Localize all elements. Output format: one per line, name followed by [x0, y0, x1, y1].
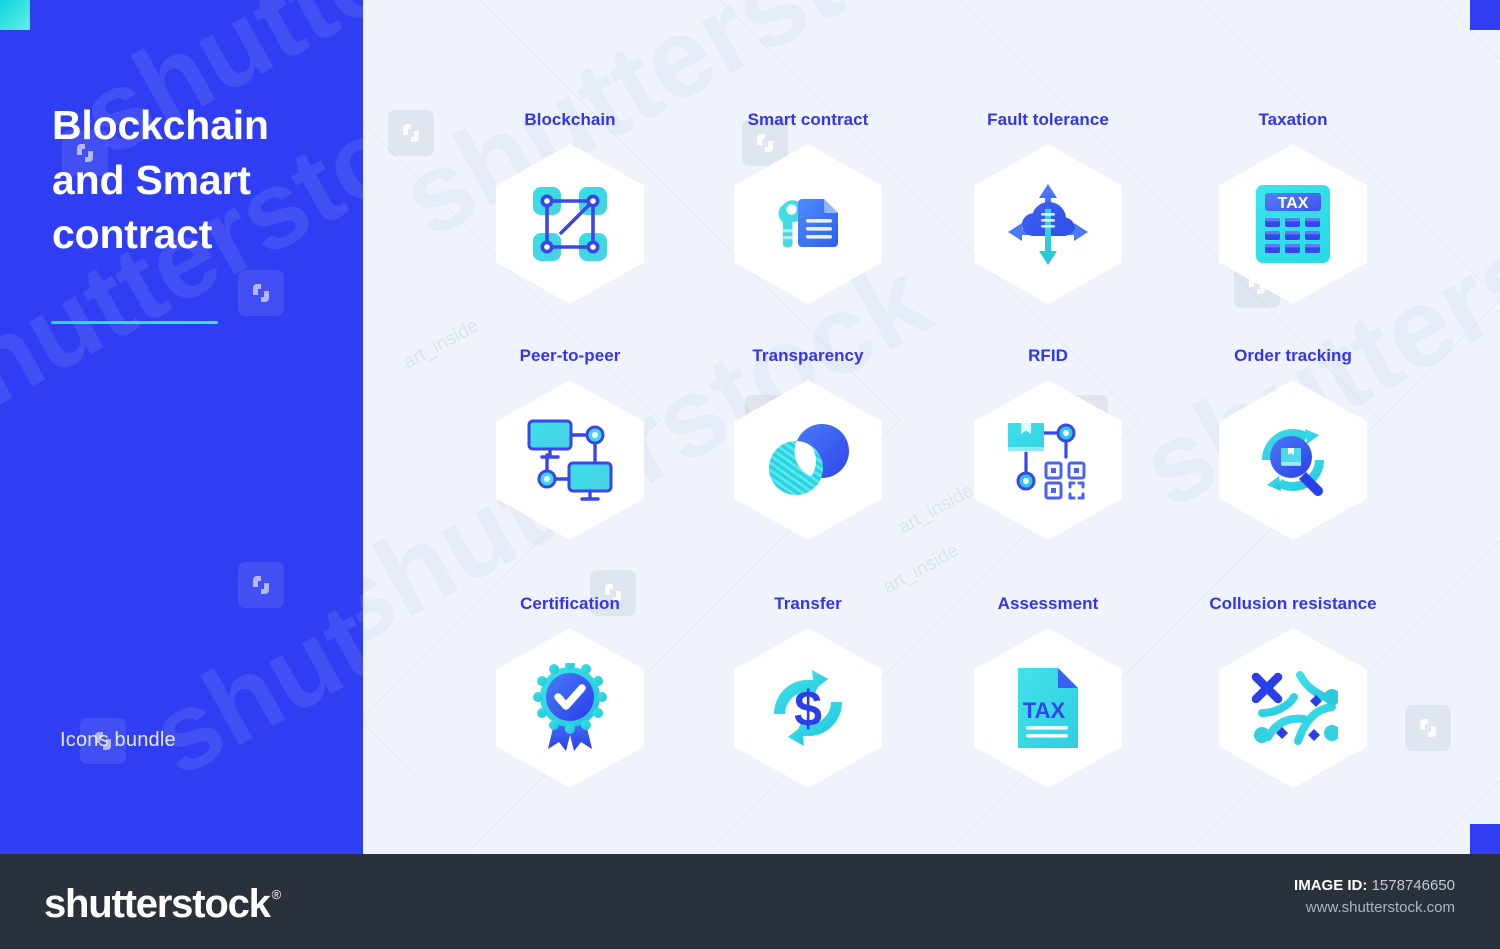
hex-tile[interactable]	[974, 144, 1122, 304]
corner-accent-bottom-right	[1470, 824, 1500, 854]
icon-cell-blockchain[interactable]: Blockchain	[470, 110, 670, 304]
two-monitors-network-icon	[496, 380, 644, 540]
icon-cell-transparency[interactable]: Transparency	[708, 346, 908, 540]
icon-label: Certification	[470, 594, 670, 614]
title-divider	[51, 321, 218, 324]
icon-grid: Blockchain	[400, 0, 1500, 854]
overlapping-circles-icon	[734, 380, 882, 540]
x-nodes-cross-icon	[1219, 628, 1367, 788]
hex-tile[interactable]	[496, 628, 644, 788]
hex-tile[interactable]	[496, 380, 644, 540]
icon-label: Fault tolerance	[948, 110, 1148, 130]
icon-label: Order tracking	[1193, 346, 1393, 366]
tax-document-icon: TAX	[974, 628, 1122, 788]
corner-accent-chip	[0, 0, 30, 30]
icon-cell-collusion-resistance[interactable]: Collusion resistance	[1193, 594, 1393, 788]
bundle-subtitle: Icons bundle	[60, 729, 176, 752]
blockchain-nodes-icon	[496, 144, 644, 304]
icon-cell-assessment[interactable]: Assessment TAX	[948, 594, 1148, 788]
page-title: Blockchain and Smart contract	[52, 98, 342, 262]
hex-tile[interactable]	[1219, 628, 1367, 788]
icon-cell-certification[interactable]: Certification	[470, 594, 670, 788]
shutterstock-logo: shutterstock ®	[44, 884, 281, 924]
icon-cell-transfer[interactable]: Transfer	[708, 594, 908, 788]
image-id-value: 1578746650	[1372, 877, 1455, 894]
icon-label: Peer-to-peer	[470, 346, 670, 366]
hex-tile[interactable]: $	[734, 628, 882, 788]
sidebar-panel: shutterstock shutterstock shutterstock B…	[0, 0, 363, 854]
footer-meta: IMAGE ID: 1578746650 www.shutterstock.co…	[1294, 875, 1455, 919]
poster-canvas: shutterstock shutterstock shutterstock a…	[0, 0, 1500, 949]
cloud-arrows-icon	[974, 144, 1122, 304]
icon-label: Collusion resistance	[1193, 594, 1393, 614]
icon-cell-smart-contract[interactable]: Smart contract	[708, 110, 908, 304]
key-document-icon	[734, 144, 882, 304]
hex-tile[interactable]	[974, 380, 1122, 540]
icon-cell-fault-tolerance[interactable]: Fault tolerance	[948, 110, 1148, 304]
sidebar-mark-chip-3	[238, 562, 284, 608]
icon-label: Smart contract	[708, 110, 908, 130]
dollar-refresh-arrows-icon: $	[734, 628, 882, 788]
calculator-screen-text: TAX	[1278, 195, 1309, 212]
image-id-label: IMAGE ID:	[1294, 877, 1367, 894]
icon-label: Assessment	[948, 594, 1148, 614]
box-qr-code-icon	[974, 380, 1122, 540]
icon-cell-peer-to-peer[interactable]: Peer-to-peer	[470, 346, 670, 540]
hex-tile[interactable]	[734, 144, 882, 304]
hex-tile[interactable]	[496, 144, 644, 304]
hex-tile[interactable]	[1219, 380, 1367, 540]
icon-cell-taxation[interactable]: Taxation	[1193, 110, 1393, 304]
image-id-line: IMAGE ID: 1578746650	[1294, 875, 1455, 897]
sidebar-mark-chip-2	[238, 270, 284, 316]
hex-tile[interactable]	[734, 380, 882, 540]
icon-cell-rfid[interactable]: RFID	[948, 346, 1148, 540]
dollar-sign-glyph: $	[794, 681, 822, 737]
icon-label: Taxation	[1193, 110, 1393, 130]
icon-label: Transfer	[708, 594, 908, 614]
shutterstock-wordmark: shutterstock	[44, 884, 270, 924]
registered-mark: ®	[272, 888, 282, 901]
footer-url: www.shutterstock.com	[1294, 897, 1455, 919]
magnifier-box-refresh-icon	[1219, 380, 1367, 540]
award-ribbon-check-icon	[496, 628, 644, 788]
document-tax-text: TAX	[1023, 698, 1066, 723]
icon-cell-order-tracking[interactable]: Order tracking	[1193, 346, 1393, 540]
icon-label: Transparency	[708, 346, 908, 366]
corner-accent-top-right	[1470, 0, 1500, 30]
hex-tile[interactable]: TAX	[974, 628, 1122, 788]
icon-label: Blockchain	[470, 110, 670, 130]
tax-calculator-icon: TAX	[1219, 144, 1367, 304]
artwork-area: shutterstock shutterstock shutterstock a…	[0, 0, 1500, 854]
hex-tile[interactable]: TAX	[1219, 144, 1367, 304]
icon-label: RFID	[948, 346, 1148, 366]
